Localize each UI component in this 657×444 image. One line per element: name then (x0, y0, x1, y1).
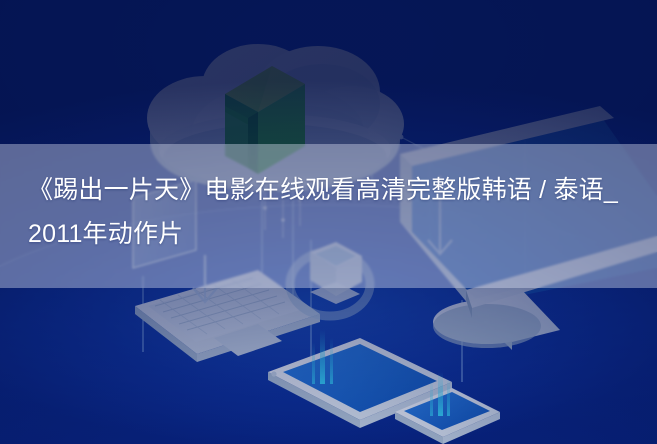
banner-image: 《踢出一片天》电影在线观看高清完整版韩语 / 泰语_2011年动作片 (0, 0, 657, 444)
page-title: 《踢出一片天》电影在线观看高清完整版韩语 / 泰语_2011年动作片 (0, 144, 657, 288)
